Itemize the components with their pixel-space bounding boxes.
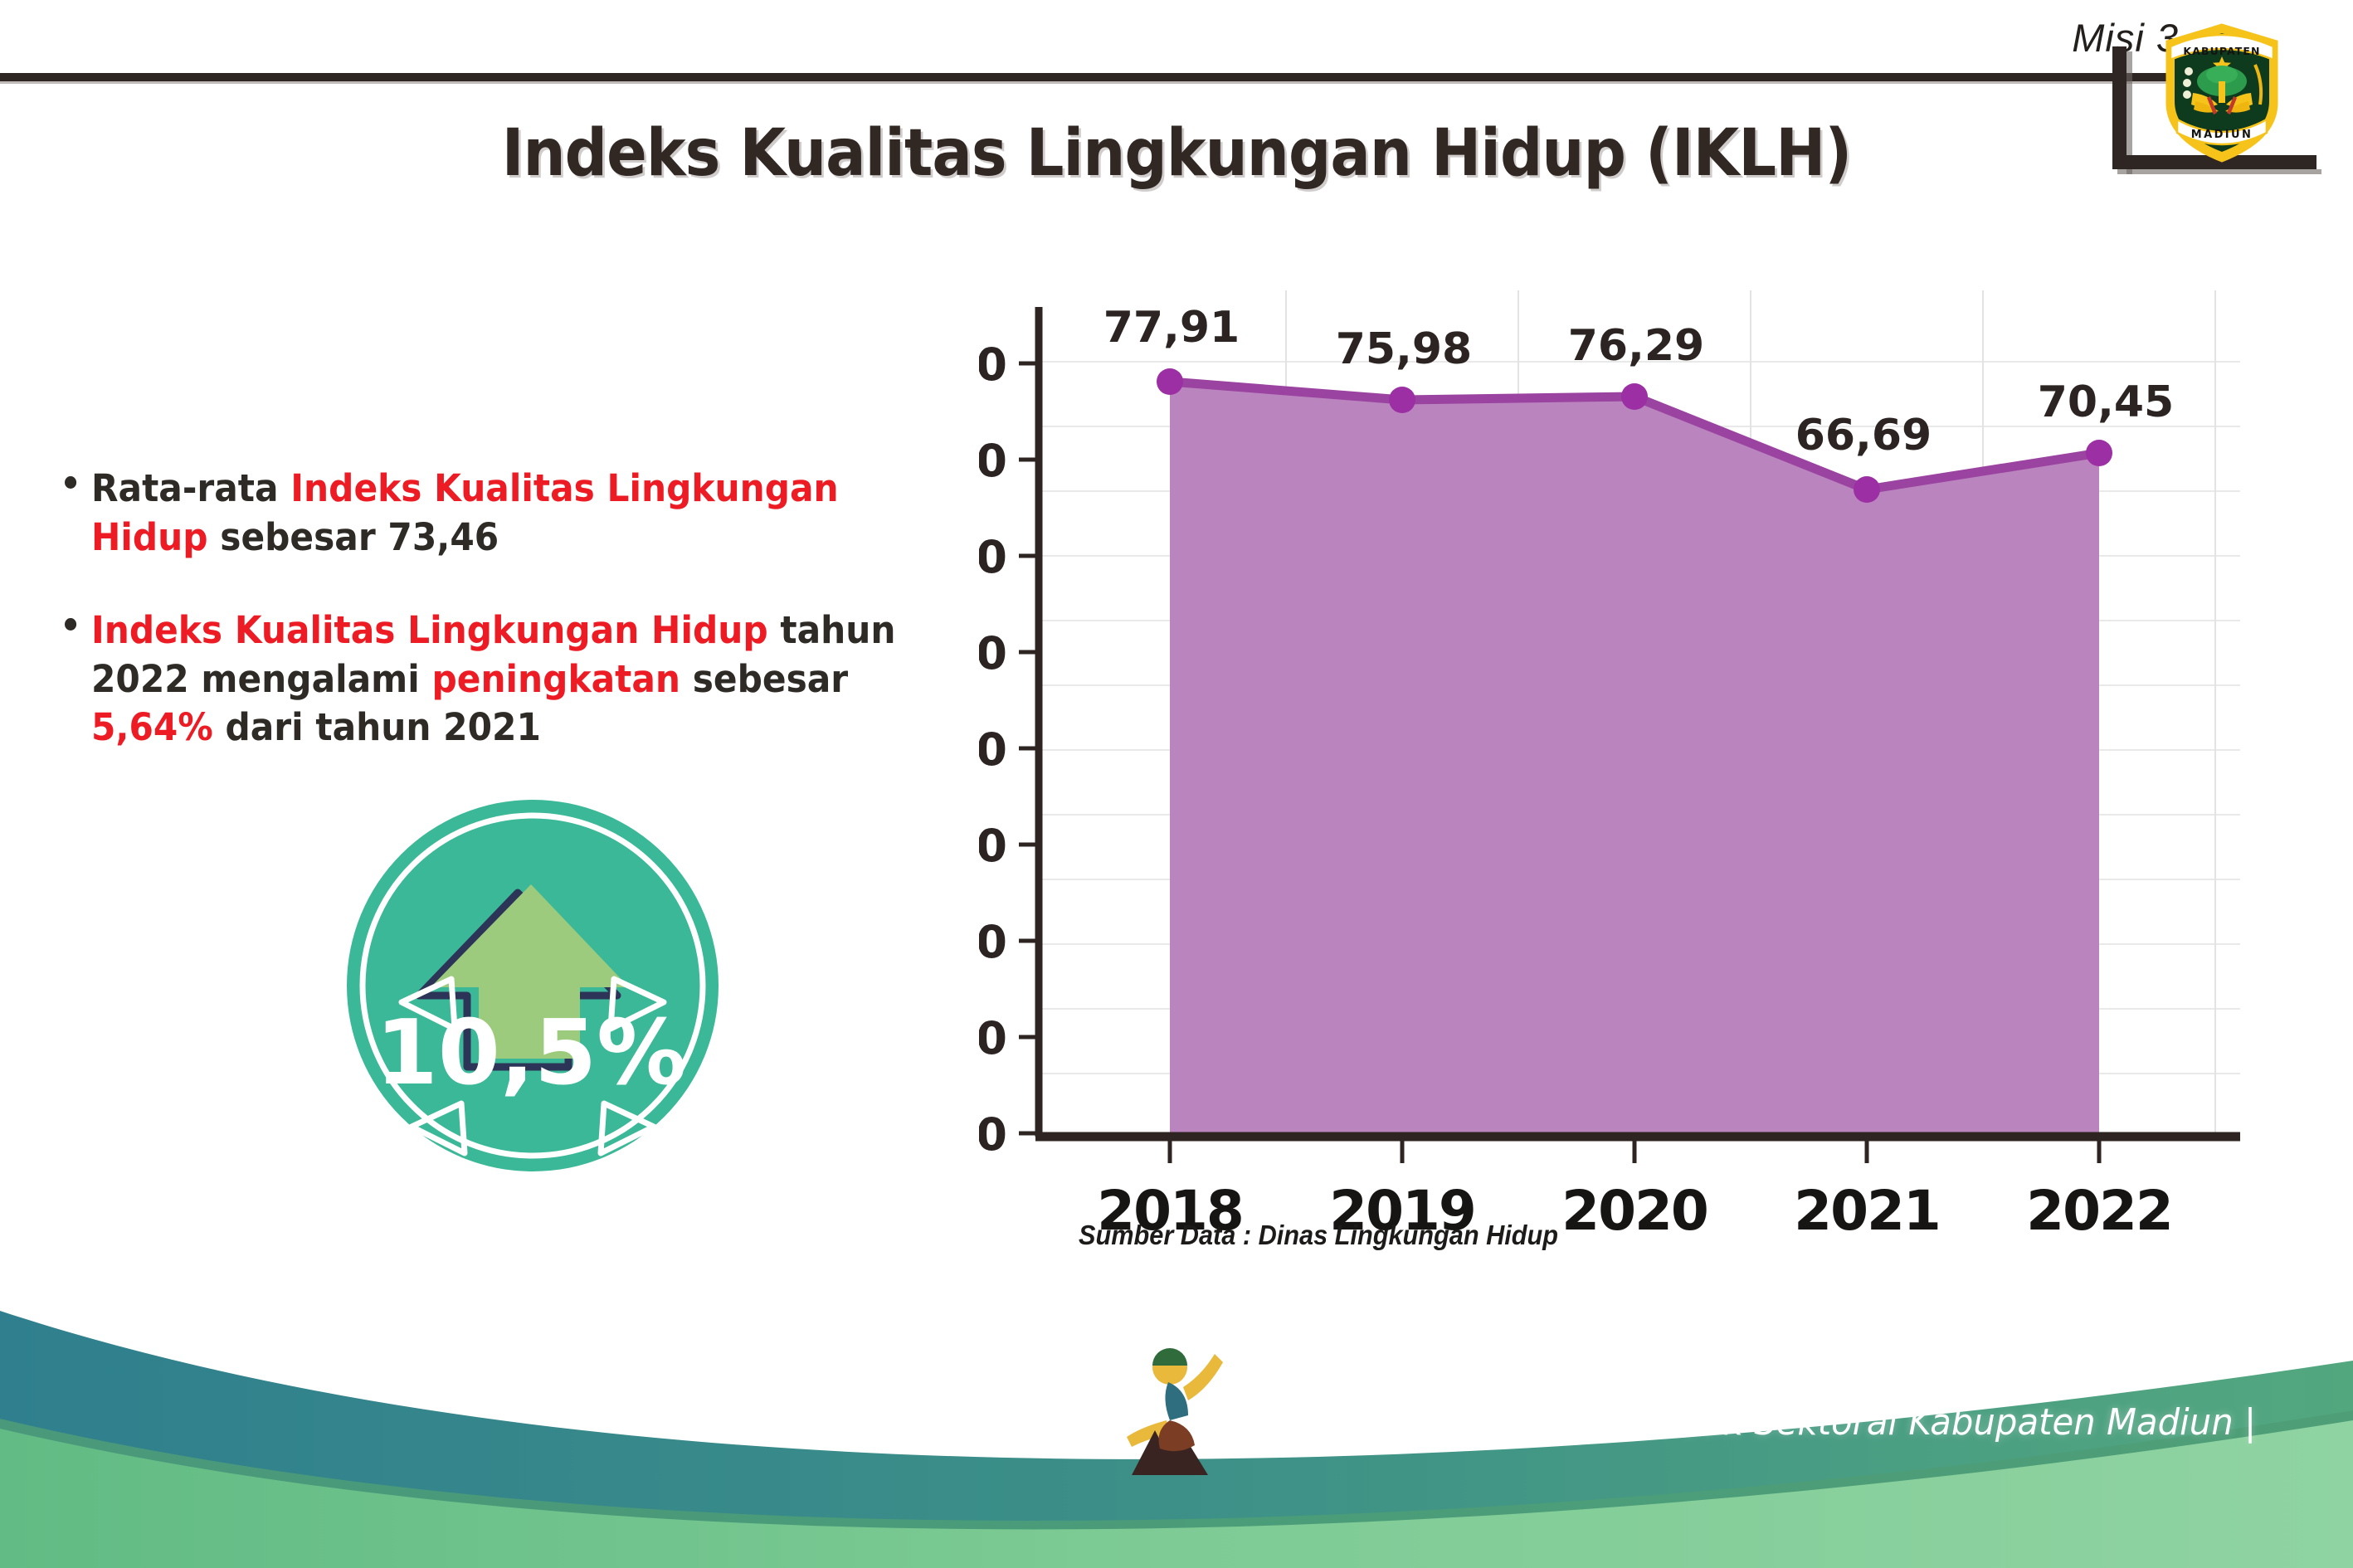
infographic-slide: Misi 3 KABUPATEN bbox=[0, 0, 2353, 1568]
list-item: Rata-rata Indeks Kualitas Lingkungan Hid… bbox=[65, 465, 907, 562]
page-title: Indeks Kualitas Lingkungan Hidup (IKLH) bbox=[94, 116, 2258, 191]
data-label: 75,98 bbox=[1336, 324, 1472, 374]
bullet-text-1: Rata-rata Indeks Kualitas Lingkungan Hid… bbox=[91, 466, 839, 559]
chart-area-fill bbox=[1170, 382, 2099, 1133]
x-tick-label: 2022 bbox=[2026, 1179, 2172, 1243]
y-tick-label: 10 bbox=[979, 1012, 1007, 1064]
chart-y-tick-labels: 80 70 60 50 40 30 20 10 0 bbox=[979, 338, 1007, 1161]
bullet-dot-icon bbox=[65, 618, 76, 631]
data-label: 66,69 bbox=[1795, 411, 1932, 460]
chart-svg: 77,91 75,98 76,29 66,69 70,45 bbox=[979, 274, 2273, 1253]
increase-badge: 10,5% bbox=[325, 762, 740, 1176]
source-note: Sumber Data : Dinas Lingkungan Hidup bbox=[1079, 1220, 1558, 1251]
y-tick-label: 60 bbox=[979, 531, 1007, 583]
list-item: Indeks Kualitas Lingkungan Hidup tahun 2… bbox=[65, 606, 907, 752]
y-tick-label: 40 bbox=[979, 723, 1007, 776]
x-tick-label: 2021 bbox=[1794, 1179, 1940, 1243]
header-divider-line bbox=[0, 73, 2195, 81]
data-label: 77,91 bbox=[1103, 303, 1240, 353]
bullet-list: Rata-rata Indeks Kualitas Lingkungan Hid… bbox=[65, 465, 907, 797]
bullet-text-2: Indeks Kualitas Lingkungan Hidup tahun 2… bbox=[91, 608, 896, 749]
y-tick-label: 0 bbox=[979, 1108, 1007, 1161]
data-label: 70,45 bbox=[2038, 377, 2174, 427]
x-tick-label: 2020 bbox=[1561, 1179, 1708, 1243]
iklh-area-chart: 77,91 75,98 76,29 66,69 70,45 bbox=[979, 274, 2273, 1253]
svg-text:KABUPATEN: KABUPATEN bbox=[2183, 45, 2260, 57]
y-tick-label: 30 bbox=[979, 820, 1007, 872]
y-tick-label: 80 bbox=[979, 338, 1007, 391]
statistik-figure-logo-icon bbox=[1118, 1344, 1235, 1477]
data-label: 76,29 bbox=[1568, 321, 1704, 371]
bullet-dot-icon bbox=[65, 476, 76, 489]
y-tick-label: 50 bbox=[979, 627, 1007, 679]
y-tick-label: 70 bbox=[979, 435, 1007, 487]
badge-value: 10,5% bbox=[376, 1001, 687, 1105]
y-tick-label: 20 bbox=[979, 916, 1007, 968]
footer-caption: Media Infografis Data Statistik Sektoral… bbox=[1218, 1401, 2256, 1444]
